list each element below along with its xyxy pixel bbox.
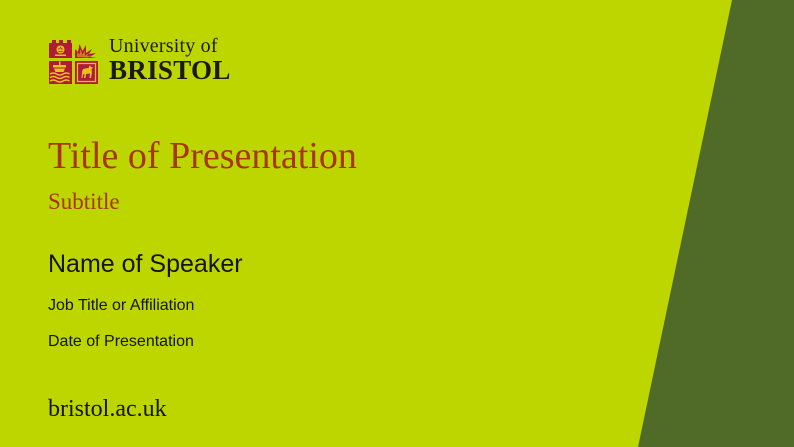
- presentation-title: Title of Presentation: [48, 136, 357, 178]
- bristol-crest-icon: [48, 34, 100, 86]
- wordmark-line-bristol: BRISTOL: [109, 57, 231, 84]
- speaker-job-title: Job Title or Affiliation: [48, 297, 194, 315]
- presentation-subtitle: Subtitle: [48, 189, 120, 214]
- presentation-slide: University of BRISTOL Title of Presentat…: [0, 0, 794, 447]
- university-wordmark: University of BRISTOL: [109, 36, 231, 84]
- university-logo: University of BRISTOL: [48, 34, 231, 86]
- speaker-name: Name of Speaker: [48, 251, 243, 279]
- website-url: bristol.ac.uk: [48, 396, 167, 422]
- presentation-date: Date of Presentation: [48, 333, 194, 351]
- wordmark-line-university: University of: [109, 36, 231, 57]
